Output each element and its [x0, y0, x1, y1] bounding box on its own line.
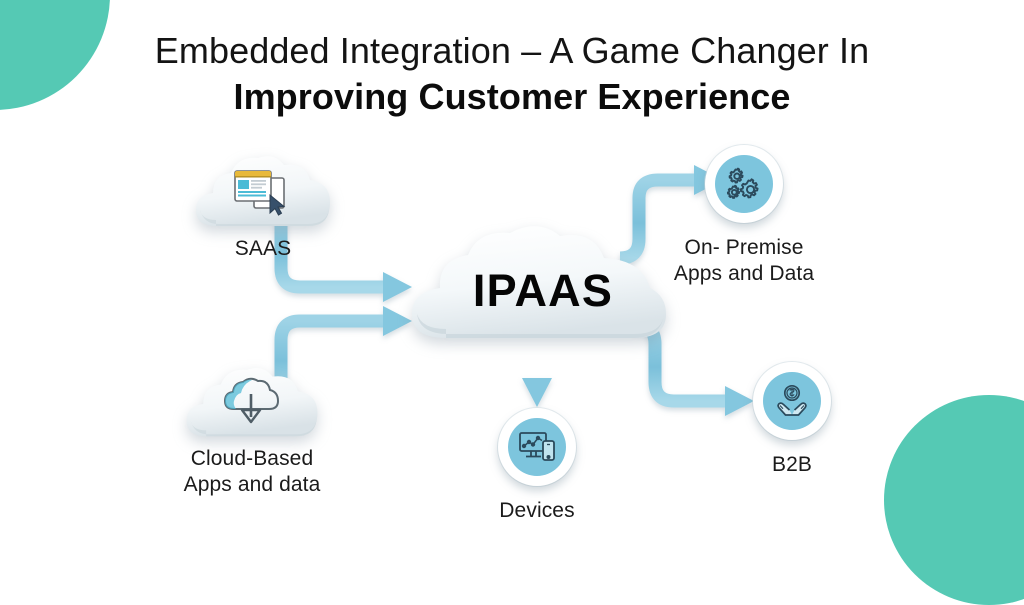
label-cloud-based-line2: Apps and data [122, 472, 382, 498]
on-premise-circle [705, 145, 783, 223]
label-on-premise: On- Premise Apps and Data [614, 235, 874, 286]
label-on-premise-line2: Apps and Data [614, 261, 874, 287]
monitor-phone-chart-icon [508, 418, 566, 476]
saas-cloud-shape [188, 150, 338, 234]
node-b2b[interactable]: B2B [753, 362, 831, 440]
node-cloud-based[interactable]: Cloud-Based Apps and data [178, 362, 326, 444]
devices-circle [498, 408, 576, 486]
diagram-canvas: Embedded Integration – A Game Changer In… [0, 0, 1024, 535]
gears-icon [715, 155, 773, 213]
node-saas[interactable]: SAAS [188, 150, 338, 234]
cloud-download-icon [214, 376, 286, 428]
label-cloud-based-line1: Cloud-Based [122, 446, 382, 472]
label-b2b: B2B [662, 452, 922, 478]
b2b-circle [753, 362, 831, 440]
label-saas: SAAS [133, 236, 393, 262]
label-cloud-based: Cloud-Based Apps and data [122, 446, 382, 497]
label-devices: Devices [407, 498, 667, 524]
cloudbased-cloud-shape [178, 362, 326, 444]
hands-holding-coin-icon [763, 372, 821, 430]
browser-window-cursor-icon [226, 166, 300, 218]
node-devices[interactable]: Devices [498, 408, 576, 486]
label-on-premise-line1: On- Premise [614, 235, 874, 261]
node-on-premise[interactable]: On- Premise Apps and Data [705, 145, 783, 223]
